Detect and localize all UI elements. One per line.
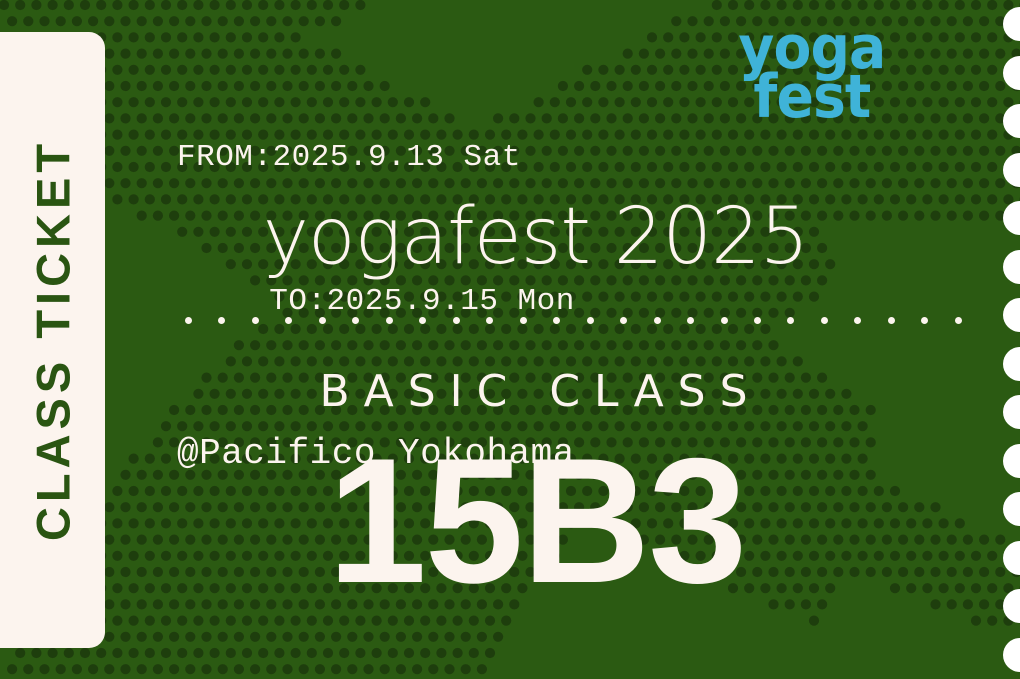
divider-dot: [721, 317, 728, 324]
divider-dot: [821, 317, 828, 324]
divider-dot: [620, 317, 627, 324]
stub-label: CLASS TICKET: [25, 139, 80, 541]
event-title: yogafest 2025: [105, 192, 966, 282]
divider-dot: [319, 317, 326, 324]
divider-dot: [520, 317, 527, 324]
divider-dot: [587, 317, 594, 324]
class-name: BASIC CLASS: [105, 366, 962, 417]
divider-dot: [486, 317, 493, 324]
ticket-stub: CLASS TICKET: [0, 32, 105, 648]
divider-dot: [654, 317, 661, 324]
logo-line-fest: fest: [739, 73, 886, 122]
ticket-body: FROM:2025.9.13 Sat TO:2025.9.15 Mon @Pac…: [105, 0, 1020, 679]
divider-dot: [185, 317, 192, 324]
divider-dot: [687, 317, 694, 324]
divider-dot: [854, 317, 861, 324]
date-from: FROM:2025.9.13 Sat: [177, 134, 575, 182]
seat-code: 15B3: [105, 432, 968, 610]
divider-dot: [453, 317, 460, 324]
divider-dot: [352, 317, 359, 324]
dotted-divider: [185, 316, 962, 324]
divider-dot: [419, 317, 426, 324]
divider-dot: [386, 317, 393, 324]
divider-dot: [285, 317, 292, 324]
divider-dot: [888, 317, 895, 324]
divider-dot: [921, 317, 928, 324]
divider-dot: [955, 317, 962, 324]
divider-dot: [252, 317, 259, 324]
divider-dot: [218, 317, 225, 324]
divider-dot: [754, 317, 761, 324]
class-ticket: CLASS TICKET FROM:2025.9.13 Sat TO:2025.…: [0, 0, 1020, 679]
yogafest-logo: yoga fest: [739, 24, 886, 122]
divider-dot: [787, 317, 794, 324]
divider-dot: [553, 317, 560, 324]
